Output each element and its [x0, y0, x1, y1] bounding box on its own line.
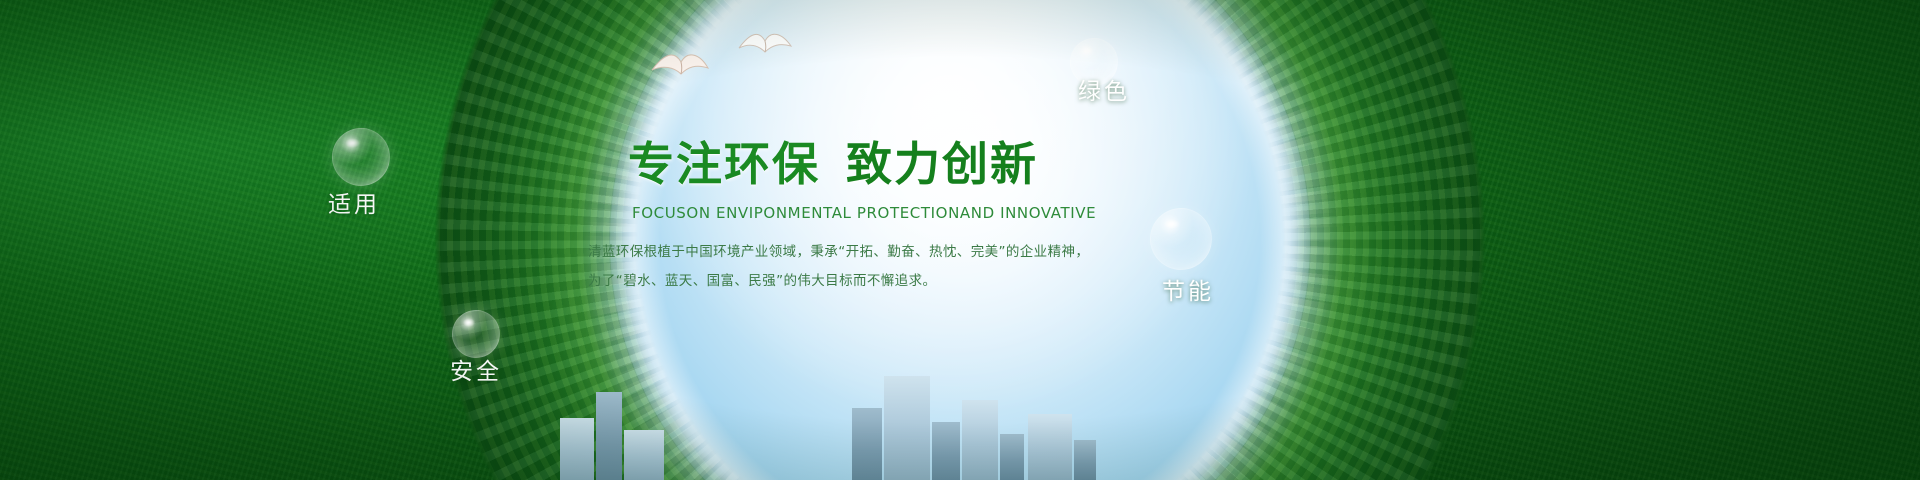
paragraph-line-1: 清蓝环保根植于中国环境产业领域，秉承“开拓、勤奋、热忱、完美”的企业精神，: [588, 238, 1058, 267]
copy-block: 专注环保致力创新 FOCUSON ENVIPONMENTAL PROTECTIO…: [0, 0, 1920, 480]
hero-banner: 绿色 适用 节能 安全 专注环保致力创新 FOCUSON ENVIPONMENT…: [0, 0, 1920, 480]
paragraph-line-2: 为了“碧水、蓝天、国富、民强”的伟大目标而不懈追求。: [588, 267, 1058, 296]
subtitle-english: FOCUSON ENVIPONMENTAL PROTECTIONAND INNO…: [632, 204, 1096, 222]
description-paragraph: 清蓝环保根植于中国环境产业领域，秉承“开拓、勤奋、热忱、完美”的企业精神， 为了…: [588, 238, 1058, 296]
headline-secondary: 致力创新: [846, 137, 1038, 191]
page-title: 专注环保致力创新: [628, 128, 1038, 194]
headline-primary: 专注环保: [628, 137, 820, 191]
